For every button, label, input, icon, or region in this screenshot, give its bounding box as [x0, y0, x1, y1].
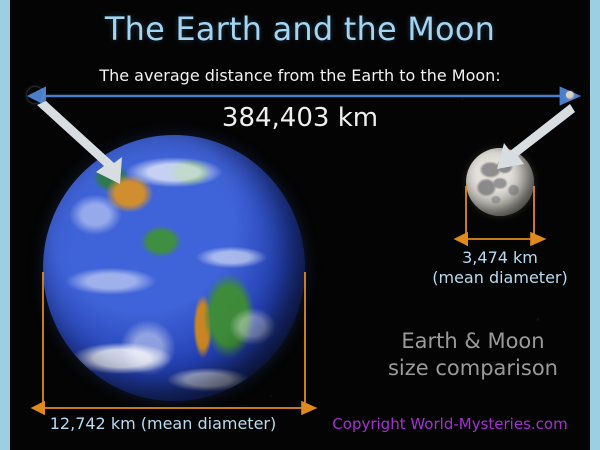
distance-subtitle: The average distance from the Earth to t…: [10, 66, 590, 85]
earth-icon: [27, 87, 43, 103]
size-comparison-label: Earth & Moon size comparison: [360, 328, 586, 382]
left-border-rail: [0, 0, 10, 450]
earth-photo: [43, 135, 305, 401]
page-title: The Earth and the Moon: [10, 10, 590, 48]
size-comparison-line1: Earth & Moon: [401, 329, 544, 353]
earth-diameter-caption: 12,742 km (mean diameter): [20, 414, 306, 433]
earth-moon-comparison-infographic: The Earth and the Moon The average dista…: [0, 0, 600, 450]
moon-diameter-value: 3,474 km: [462, 248, 538, 267]
moon-diameter-caption: 3,474 km (mean diameter): [406, 248, 590, 288]
moon-icon: [566, 91, 574, 99]
moon-photo: [466, 148, 534, 216]
distance-value: 384,403 km: [10, 103, 590, 133]
right-border-rail: [590, 0, 600, 450]
moon-diameter-note: (mean diameter): [406, 268, 590, 288]
size-comparison-line2: size comparison: [360, 355, 586, 382]
infographic-stage: The Earth and the Moon The average dista…: [10, 0, 590, 450]
copyright-notice: Copyright World-Mysteries.com: [310, 415, 590, 433]
